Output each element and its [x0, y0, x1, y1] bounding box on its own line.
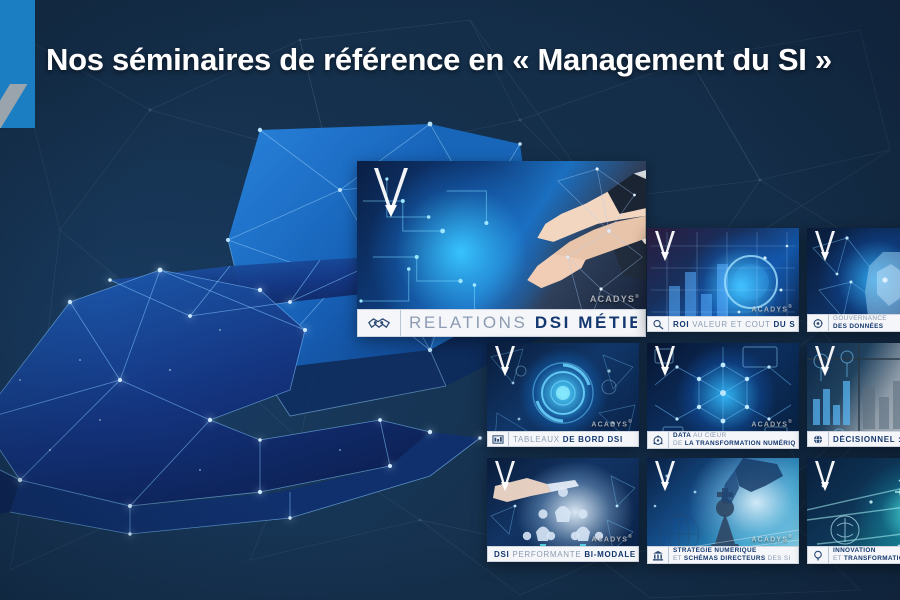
- card-label-bar: GOUVERNANCE DES DONNÉES: [807, 314, 900, 332]
- network-node-icon: [651, 434, 664, 446]
- logo-slash-icon: [0, 84, 27, 128]
- globe-icon: [811, 433, 824, 445]
- page-title: Nos séminaires de référence en « Managem…: [46, 41, 832, 79]
- seminar-card-strategie-numerique-schemas-directeurs[interactable]: ACADYS® STRATÉGIE NUMÉRIQUE ET: [647, 458, 799, 564]
- label-divider: [828, 432, 829, 446]
- bulb-icon: [811, 549, 824, 561]
- bank-icon: [651, 549, 664, 561]
- slide-canvas: Nos séminaires de référence en « Managem…: [0, 0, 900, 600]
- card-label-text: STRATÉGIE NUMÉRIQUE ET SCHÉMAS DIRECTEUR…: [673, 547, 795, 563]
- card-label-text: TABLEAUX DE BORD DSI: [513, 435, 635, 444]
- acadys-logo-mark: [0, 0, 35, 128]
- label-divider: [668, 547, 669, 563]
- card-watermark: ACADYS®: [591, 419, 633, 428]
- card-label-text: INNOVATION ET TRANSFORMATION N: [833, 547, 900, 563]
- seminar-card-tableaux-de-bord-dsi[interactable]: ACADYS® TABLEAUX DE BORD DSI: [487, 343, 639, 447]
- seminar-card-roi-valeur-cout-si[interactable]: ACADYS® ROI VALEUR ET COUT DU SI: [647, 228, 799, 332]
- card-watermark: ACADYS®: [590, 294, 640, 304]
- card-label-bar: TABLEAUX DE BORD DSI: [487, 431, 639, 447]
- card-label-bar: DÉCISIONNEL : ETAT: [807, 431, 900, 447]
- data-gear-icon: [811, 317, 824, 329]
- card-label-bar: STRATÉGIE NUMÉRIQUE ET SCHÉMAS DIRECTEUR…: [647, 546, 799, 564]
- card-label-bar: ROI VALEUR ET COUT DU SI: [647, 316, 799, 332]
- card-label-bar: INNOVATION ET TRANSFORMATION N: [807, 546, 900, 564]
- card-label-text: DSI PERFORMANTE BI-MODALE: [494, 550, 635, 559]
- seminar-card-gouvernance-des-donnees[interactable]: ACADYS® GOUVERNANCE DES DONNÉES: [807, 228, 900, 332]
- label-divider: [828, 547, 829, 563]
- card-label-text: DATA AU CŒUR DE LA TRANSFORMATION NUMÉRI…: [673, 432, 795, 448]
- magnifier-icon: [651, 318, 664, 330]
- seminar-card-data-au-coeur-transformation-numerique[interactable]: ACADYS® DATA AU CŒUR: [647, 343, 799, 449]
- label-divider: [400, 310, 401, 336]
- seminar-card-relations-dsi-metier[interactable]: ACADYS® RELATIONS DSI MÉTIER: [357, 161, 646, 337]
- card-label-text: DÉCISIONNEL : ETAT: [833, 435, 900, 444]
- card-label-bar: DATA AU CŒUR DE LA TRANSFORMATION NUMÉRI…: [647, 431, 799, 449]
- card-label-text: ROI VALEUR ET COUT DU SI: [673, 320, 795, 329]
- dashboard-icon: [491, 433, 504, 445]
- label-divider: [828, 315, 829, 331]
- card-label-bar: DSI PERFORMANTE BI-MODALE: [487, 546, 639, 562]
- seminar-card-decisionnel-etat[interactable]: ACADYS® DÉCISIONNEL : ETAT: [807, 343, 900, 447]
- handshake-icon: [366, 313, 392, 333]
- label-divider: [668, 432, 669, 448]
- seminar-card-innovation-transformation-numerique[interactable]: ACADYS® INNOVATION ET TRANSFORMATION N: [807, 458, 900, 564]
- card-watermark: ACADYS®: [591, 534, 633, 543]
- label-divider: [668, 317, 669, 331]
- label-divider: [508, 432, 509, 446]
- card-watermark: ACADYS®: [751, 534, 793, 543]
- card-label-bar: RELATIONS DSI MÉTIER: [357, 309, 646, 337]
- card-watermark: ACADYS®: [751, 304, 793, 313]
- card-watermark: ACADYS®: [751, 419, 793, 428]
- card-label-text: GOUVERNANCE DES DONNÉES: [833, 315, 900, 331]
- seminar-card-dsi-performante-bi-modale[interactable]: ACADYS® DSI PERFORMANTE BI-MODALE: [487, 458, 639, 562]
- card-label-text: RELATIONS DSI MÉTIER: [409, 313, 637, 333]
